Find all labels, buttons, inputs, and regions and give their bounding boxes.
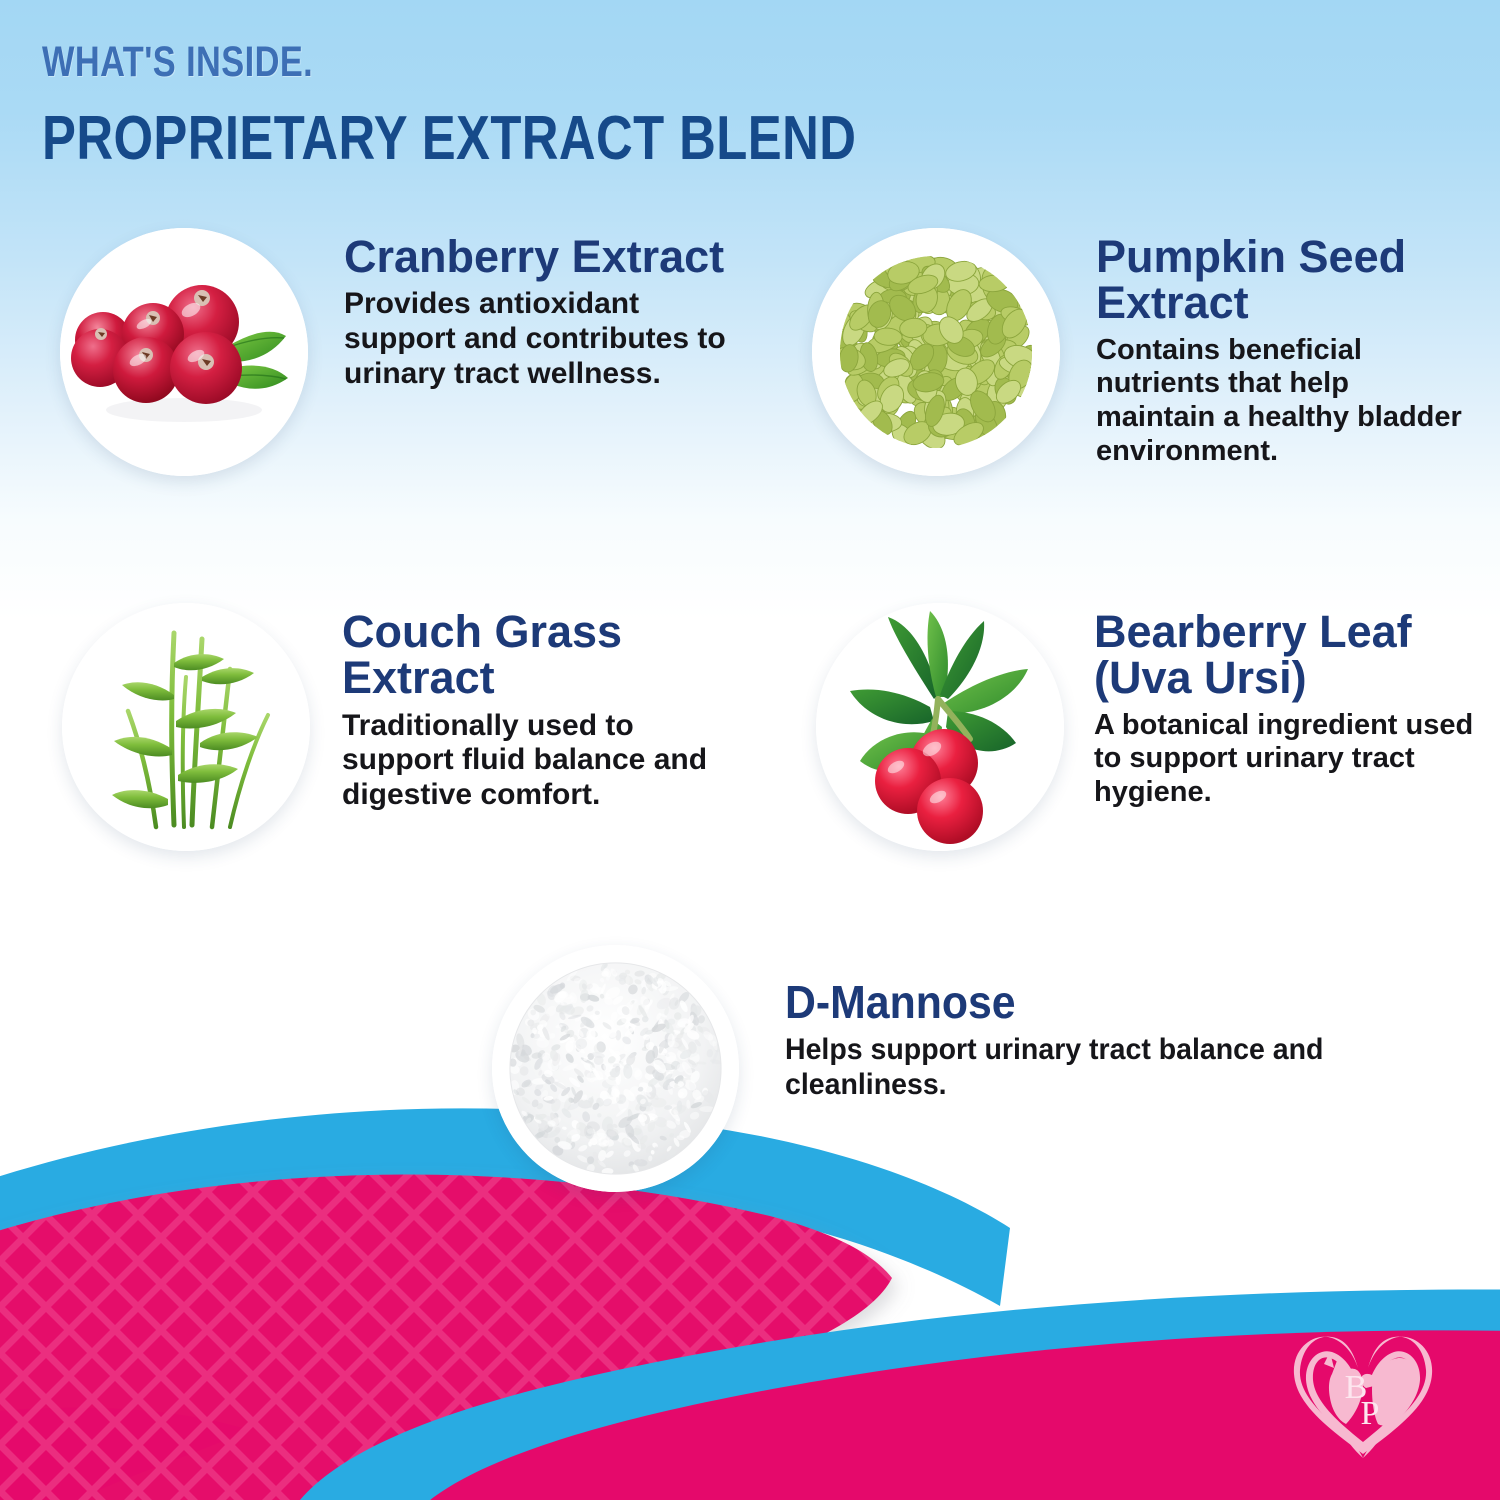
brand-logo: B P bbox=[1288, 1324, 1438, 1462]
pumpkin-seed-image-circle bbox=[812, 228, 1060, 476]
ingredient-card-d-mannose: D-Mannose Helps support urinary tract ba… bbox=[492, 945, 1365, 1192]
bearberry-leaf-photo bbox=[816, 603, 1064, 851]
ingredient-title: D-Mannose bbox=[785, 979, 1324, 1026]
bearberry-image-circle bbox=[816, 603, 1064, 851]
d-mannose-image-circle bbox=[492, 945, 739, 1192]
couch-grass-text: Couch Grass Extract Traditionally used t… bbox=[342, 603, 732, 813]
ingredient-description: A botanical ingredient used to support u… bbox=[1094, 709, 1474, 810]
d-mannose-text: D-Mannose Helps support urinary tract ba… bbox=[785, 945, 1365, 1103]
ingredient-card-couch-grass: Couch Grass Extract Traditionally used t… bbox=[62, 603, 732, 851]
ingredient-description: Helps support urinary tract balance and … bbox=[785, 1033, 1336, 1103]
page-header: WHAT'S INSIDE. PROPRIETARY EXTRACT BLEND bbox=[42, 38, 1035, 174]
ingredient-title: Cranberry Extract bbox=[344, 234, 744, 280]
cranberry-text: Cranberry Extract Provides antioxidant s… bbox=[344, 228, 744, 392]
page-title: PROPRIETARY EXTRACT BLEND bbox=[42, 103, 856, 174]
couch-grass-photo bbox=[62, 603, 310, 851]
ingredient-title: Couch Grass Extract bbox=[342, 609, 732, 702]
ingredient-description: Contains beneficial nutrients that help … bbox=[1096, 334, 1468, 469]
cranberry-photo bbox=[60, 228, 308, 476]
ingredient-card-bearberry: Bearberry Leaf (Uva Ursi) A botanical in… bbox=[816, 603, 1474, 851]
pumpkin-seed-photo bbox=[812, 228, 1060, 476]
eyebrow-heading: WHAT'S INSIDE. bbox=[42, 38, 836, 87]
ingredient-description: Traditionally used to support fluid bala… bbox=[342, 709, 732, 813]
couch-grass-image-circle bbox=[62, 603, 310, 851]
ingredient-title: Bearberry Leaf (Uva Ursi) bbox=[1094, 609, 1474, 702]
logo-monogram-p: P bbox=[1361, 1395, 1380, 1432]
ingredient-title: Pumpkin Seed Extract bbox=[1096, 234, 1468, 327]
cat-and-dog-heart-logo-icon: B P bbox=[1288, 1324, 1438, 1462]
pumpkin-seed-text: Pumpkin Seed Extract Contains beneficial… bbox=[1096, 228, 1468, 468]
ingredient-card-cranberry: Cranberry Extract Provides antioxidant s… bbox=[60, 228, 744, 476]
ingredient-card-pumpkin-seed: Pumpkin Seed Extract Contains beneficial… bbox=[812, 228, 1468, 476]
d-mannose-powder-photo bbox=[492, 945, 739, 1192]
ingredient-description: Provides antioxidant support and contrib… bbox=[344, 287, 744, 391]
bearberry-text: Bearberry Leaf (Uva Ursi) A botanical in… bbox=[1094, 603, 1474, 810]
cranberry-image-circle bbox=[60, 228, 308, 476]
